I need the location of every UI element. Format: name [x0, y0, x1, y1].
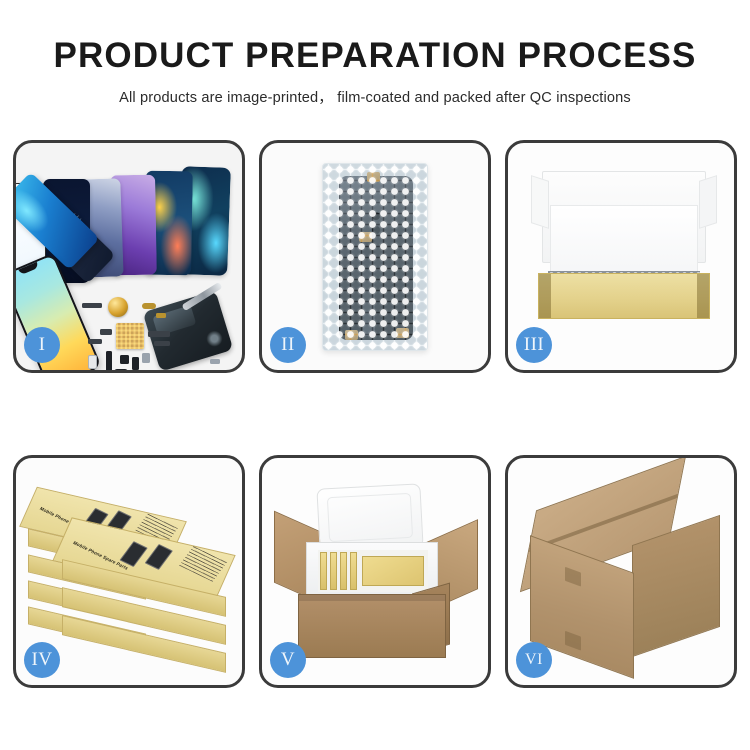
box-stack: Mobile Phone Spare Parts Mobile Phone Sp…: [28, 482, 234, 662]
bubble-wrap-bag: [322, 163, 428, 351]
kraft-inner-box: [538, 273, 710, 319]
header: PRODUCT PREPARATION PROCESS All products…: [0, 0, 750, 107]
spare-part: [100, 329, 112, 335]
spare-part: [210, 359, 220, 364]
step-panel-4: Mobile Phone Spare Parts Mobile Phone Sp…: [13, 455, 245, 688]
step-panel-1: I: [13, 140, 245, 373]
spare-part: [132, 357, 139, 370]
spare-part: [114, 369, 128, 370]
bubble-texture: [323, 164, 427, 350]
spare-part: [142, 303, 156, 309]
box-print-screen: [145, 544, 173, 570]
step-badge-5: V: [270, 642, 306, 678]
packed-box: [340, 552, 347, 590]
step-badge-1: I: [24, 327, 60, 363]
spare-part: [82, 303, 102, 308]
spare-part: [120, 355, 129, 364]
carton-seam-patch: [565, 567, 581, 587]
carton-seam-patch: [565, 631, 581, 651]
spare-part: [88, 339, 102, 344]
foam-cavity: [318, 550, 428, 592]
spare-part: [156, 313, 166, 318]
spare-part: [148, 331, 170, 337]
chip-grid-part: [116, 323, 144, 349]
foam-sheet: [550, 205, 698, 277]
packed-box: [330, 552, 337, 590]
step-panel-3: III: [505, 140, 737, 373]
packed-box: [350, 552, 357, 590]
spare-part: [154, 341, 170, 346]
step-panel-2: II: [259, 140, 491, 373]
step-badge-2: II: [270, 327, 306, 363]
step-badge-6: VI: [516, 642, 552, 678]
packed-box: [320, 552, 327, 590]
step-panel-5: V: [259, 455, 491, 688]
spare-part: [106, 351, 112, 370]
page-subtitle: All products are image-printed， film-coa…: [0, 86, 750, 107]
spare-part: [88, 355, 97, 369]
step-badge-4: IV: [24, 642, 60, 678]
carton-front: [298, 594, 446, 658]
packed-box-group: [362, 556, 424, 586]
step-badge-3: III: [516, 327, 552, 363]
gold-disc-part: [108, 297, 128, 317]
step-panel-6: VI: [505, 455, 737, 688]
process-step-grid: I II: [13, 140, 737, 688]
box-print-text: [179, 546, 227, 582]
page-title: PRODUCT PREPARATION PROCESS: [0, 38, 750, 75]
product-preparation-infographic: PRODUCT PREPARATION PROCESS All products…: [0, 0, 750, 750]
spare-part: [142, 353, 150, 363]
